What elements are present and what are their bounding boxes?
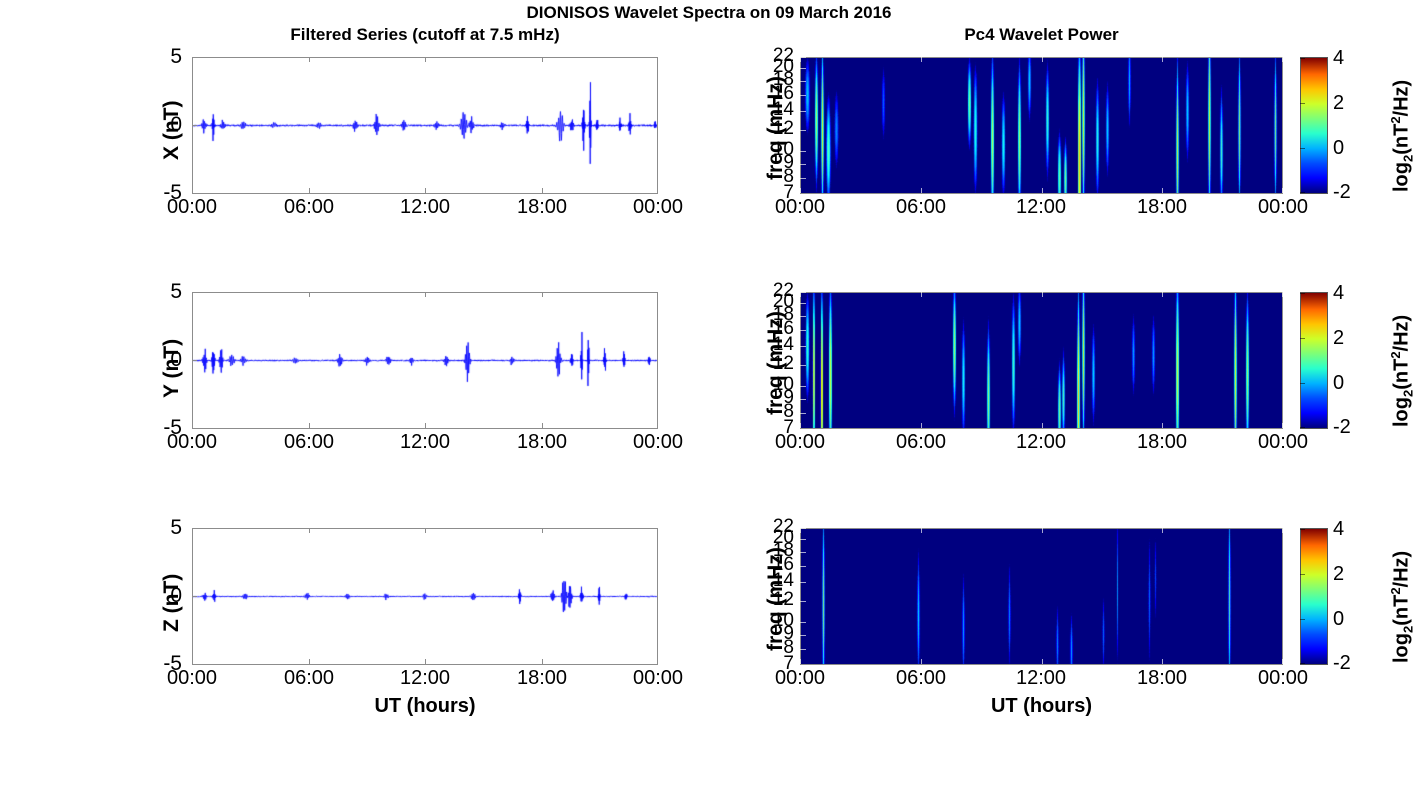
- axis-tickmark: [192, 57, 197, 58]
- xtick-z-0: 00:00: [140, 667, 244, 690]
- colorbar-label-x: log2(nT2/Hz): [1388, 80, 1416, 192]
- axis-tickmark: [425, 528, 426, 533]
- axis-tickmark: [1300, 663, 1305, 664]
- axis-tickmark: [921, 528, 922, 533]
- axis-tickmark: [1042, 188, 1043, 193]
- axis-tickmark: [1042, 57, 1043, 62]
- axis-tickmark: [1162, 423, 1163, 428]
- axis-tickmark: [657, 188, 658, 193]
- cbtick-x-2: 2: [1333, 92, 1344, 115]
- axis-tickmark: [542, 57, 543, 62]
- axis-tickmark: [309, 528, 310, 533]
- axis-tickmark: [542, 528, 543, 533]
- ytick-z-0: 0: [150, 584, 182, 608]
- cbtick-x-m2: -2: [1333, 181, 1351, 204]
- axis-tickmark: [192, 528, 197, 529]
- sg-xtick-x-6: 06:00: [869, 196, 973, 219]
- sg-xtick-z-24: 00:00: [1231, 667, 1335, 690]
- axis-tickmark: [800, 57, 801, 62]
- sg-tickmark: [800, 303, 806, 304]
- axis-tickmark: [921, 57, 922, 62]
- main-title: DIONISOS Wavelet Spectra on 09 March 201…: [0, 3, 1418, 23]
- sg-xtick-z-18: 18:00: [1110, 667, 1214, 690]
- spectrogram-plot-y: [801, 293, 1282, 428]
- xaxis-label-left: UT (hours): [192, 695, 658, 718]
- sg-xtick-y-12: 12:00: [989, 431, 1093, 454]
- xtick-y-24: 00:00: [606, 431, 710, 454]
- axis-tickmark: [1042, 659, 1043, 664]
- cbtick-z-0: 0: [1333, 608, 1344, 631]
- sg-tickmark: [800, 566, 806, 567]
- axis-tickmark: [1300, 148, 1305, 149]
- axis-tickmark: [425, 423, 426, 428]
- xtick-x-18: 18:00: [490, 196, 594, 219]
- ytick-x-5: 5: [150, 45, 182, 69]
- axis-tickmark: [1042, 292, 1043, 297]
- sg-ytick-x-7: 7: [758, 182, 794, 204]
- colorbar-y: [1300, 292, 1328, 429]
- sg-xtick-y-18: 18:00: [1110, 431, 1214, 454]
- sg-tickmark: [800, 346, 806, 347]
- xtick-z-18: 18:00: [490, 667, 594, 690]
- axis-tickmark: [1162, 292, 1163, 297]
- xtick-z-12: 12:00: [373, 667, 477, 690]
- ytick-z-5: 5: [150, 516, 182, 540]
- axis-tickmark: [1300, 574, 1305, 575]
- sg-tickmark: [800, 111, 806, 112]
- axis-tickmark: [921, 659, 922, 664]
- cbtick-x-4: 4: [1333, 47, 1344, 70]
- sg-tickmark: [800, 178, 806, 179]
- axis-tickmark: [1282, 423, 1283, 428]
- spectrogram-panel-y: [800, 292, 1283, 429]
- sg-tickmark: [800, 649, 806, 650]
- sg-tickmark: [800, 194, 806, 195]
- sg-xtick-y-6: 06:00: [869, 431, 973, 454]
- spectrogram-panel-z: [800, 528, 1283, 665]
- timeseries-panel-z: [192, 528, 658, 665]
- ytick-x-0: 0: [150, 113, 182, 137]
- axis-tickmark: [800, 423, 801, 428]
- axis-tickmark: [425, 659, 426, 664]
- axis-tickmark: [1162, 659, 1163, 664]
- sg-ytick-z-7: 7: [758, 653, 794, 675]
- right-column-title: Pc4 Wavelet Power: [800, 25, 1283, 45]
- cbtick-z-4: 4: [1333, 518, 1344, 541]
- left-column-title: Filtered Series (cutoff at 7.5 mHz): [192, 25, 658, 45]
- sg-tickmark: [800, 130, 806, 131]
- sg-tickmark: [800, 316, 806, 317]
- axis-tickmark: [309, 57, 310, 62]
- cbtick-z-m2: -2: [1333, 652, 1351, 675]
- axis-tickmark: [921, 423, 922, 428]
- axis-tickmark: [1300, 338, 1305, 339]
- axis-tickmark: [1300, 427, 1305, 428]
- sg-tickmark: [800, 552, 806, 553]
- axis-tickmark: [542, 188, 543, 193]
- xtick-y-18: 18:00: [490, 431, 594, 454]
- axis-tickmark: [657, 292, 658, 297]
- sg-xtick-x-24: 00:00: [1231, 196, 1335, 219]
- sg-tickmark: [800, 386, 806, 387]
- axis-tickmark: [1300, 619, 1305, 620]
- sg-tickmark: [800, 81, 806, 82]
- sg-ytick-y-12: 12: [758, 353, 794, 375]
- axis-tickmark: [1300, 383, 1305, 384]
- axis-tickmark: [542, 659, 543, 664]
- axis-tickmark: [1300, 103, 1305, 104]
- sg-tickmark: [800, 68, 806, 69]
- colorbar-x: [1300, 57, 1328, 194]
- axis-tickmark: [309, 423, 310, 428]
- axis-tickmark: [1162, 188, 1163, 193]
- axis-tickmark: [1042, 423, 1043, 428]
- sg-tickmark: [800, 635, 806, 636]
- axis-tickmark: [800, 292, 801, 297]
- xtick-z-6: 06:00: [257, 667, 361, 690]
- cbtick-x-0: 0: [1333, 137, 1344, 160]
- spectrogram-plot-x: [801, 58, 1282, 193]
- axis-tickmark: [1282, 292, 1283, 297]
- axis-tickmark: [1300, 58, 1305, 59]
- axis-tickmark: [192, 292, 197, 293]
- sg-ytick-z-12: 12: [758, 589, 794, 611]
- sg-tickmark: [800, 399, 806, 400]
- spectrogram-plot-z: [801, 529, 1282, 664]
- sg-xtick-x-18: 18:00: [1110, 196, 1214, 219]
- sg-tickmark: [800, 164, 806, 165]
- xtick-x-24: 00:00: [606, 196, 710, 219]
- sg-xtick-z-6: 06:00: [869, 667, 973, 690]
- figure-root: DIONISOS Wavelet Spectra on 09 March 201…: [0, 0, 1418, 788]
- axis-tickmark: [1042, 528, 1043, 533]
- sg-tickmark: [800, 601, 806, 602]
- timeseries-plot-z: [193, 529, 657, 664]
- axis-tickmark: [800, 528, 801, 533]
- xtick-y-0: 00:00: [140, 431, 244, 454]
- timeseries-panel-y: [192, 292, 658, 429]
- axis-tickmark: [1162, 57, 1163, 62]
- axis-tickmark: [1282, 528, 1283, 533]
- axis-tickmark: [192, 428, 197, 429]
- axis-tickmark: [921, 188, 922, 193]
- sg-xtick-y-24: 00:00: [1231, 431, 1335, 454]
- axis-tickmark: [1282, 57, 1283, 62]
- sg-tickmark: [800, 665, 806, 666]
- sg-tickmark: [800, 151, 806, 152]
- axis-tickmark: [800, 188, 801, 193]
- sg-xtick-z-12: 12:00: [989, 667, 1093, 690]
- sg-tickmark: [800, 365, 806, 366]
- sg-tickmark: [800, 330, 806, 331]
- axis-tickmark: [657, 423, 658, 428]
- axis-tickmark: [657, 57, 658, 62]
- axis-tickmark: [192, 360, 197, 361]
- axis-tickmark: [309, 188, 310, 193]
- axis-tickmark: [309, 292, 310, 297]
- colorbar-label-z: log2(nT2/Hz): [1388, 551, 1416, 663]
- timeseries-panel-x: [192, 57, 658, 194]
- cbtick-y-4: 4: [1333, 282, 1344, 305]
- sg-tickmark: [800, 95, 806, 96]
- colorbar-label-y: log2(nT2/Hz): [1388, 315, 1416, 427]
- axis-tickmark: [542, 423, 543, 428]
- axis-tickmark: [425, 292, 426, 297]
- axis-tickmark: [921, 292, 922, 297]
- axis-tickmark: [192, 596, 197, 597]
- axis-tickmark: [1300, 529, 1305, 530]
- cbtick-z-2: 2: [1333, 563, 1344, 586]
- xtick-y-12: 12:00: [373, 431, 477, 454]
- cbtick-y-m2: -2: [1333, 416, 1351, 439]
- axis-tickmark: [1162, 528, 1163, 533]
- sg-xtick-x-12: 12:00: [989, 196, 1093, 219]
- cbtick-y-0: 0: [1333, 372, 1344, 395]
- axis-tickmark: [192, 664, 197, 665]
- colorbar-z: [1300, 528, 1328, 665]
- xtick-x-12: 12:00: [373, 196, 477, 219]
- axis-tickmark: [425, 188, 426, 193]
- xtick-y-6: 06:00: [257, 431, 361, 454]
- axis-tickmark: [192, 125, 197, 126]
- ytick-y-0: 0: [150, 348, 182, 372]
- sg-tickmark: [800, 622, 806, 623]
- ytick-y-5: 5: [150, 280, 182, 304]
- sg-tickmark: [800, 539, 806, 540]
- sg-ytick-y-7: 7: [758, 417, 794, 439]
- axis-tickmark: [1300, 192, 1305, 193]
- sg-tickmark: [800, 429, 806, 430]
- cbtick-y-2: 2: [1333, 327, 1344, 350]
- axis-tickmark: [657, 528, 658, 533]
- xaxis-label-right: UT (hours): [800, 695, 1283, 718]
- timeseries-plot-x: [193, 58, 657, 193]
- spectrogram-panel-x: [800, 57, 1283, 194]
- axis-tickmark: [425, 57, 426, 62]
- axis-tickmark: [192, 193, 197, 194]
- axis-tickmark: [657, 659, 658, 664]
- xtick-z-24: 00:00: [606, 667, 710, 690]
- axis-tickmark: [1300, 293, 1305, 294]
- axis-tickmark: [1282, 188, 1283, 193]
- xtick-x-0: 00:00: [140, 196, 244, 219]
- axis-tickmark: [309, 659, 310, 664]
- sg-ytick-x-12: 12: [758, 118, 794, 140]
- axis-tickmark: [1282, 659, 1283, 664]
- timeseries-plot-y: [193, 293, 657, 428]
- axis-tickmark: [800, 659, 801, 664]
- sg-tickmark: [800, 582, 806, 583]
- xtick-x-6: 06:00: [257, 196, 361, 219]
- axis-tickmark: [542, 292, 543, 297]
- sg-tickmark: [800, 413, 806, 414]
